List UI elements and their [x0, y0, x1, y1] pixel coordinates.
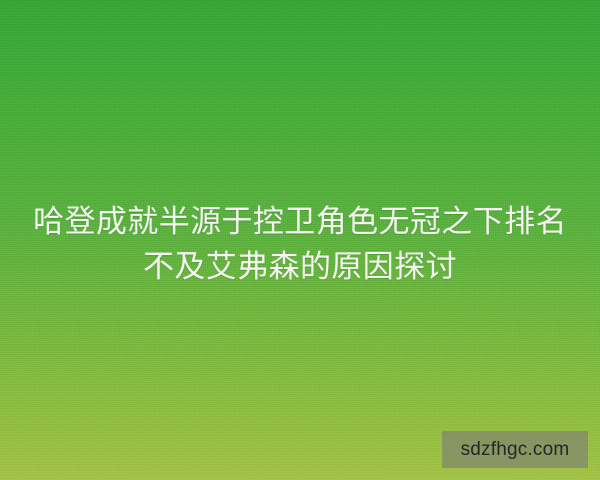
headline-text: 哈登成就半源于控卫角色无冠之下排名不及艾弗森的原因探讨: [26, 199, 574, 289]
watermark-plate: sdzfhgc.com: [442, 431, 588, 468]
image-canvas: 哈登成就半源于控卫角色无冠之下排名不及艾弗森的原因探讨 sdzfhgc.com: [0, 0, 600, 480]
watermark-url-text: sdzfhgc.com: [461, 440, 570, 459]
